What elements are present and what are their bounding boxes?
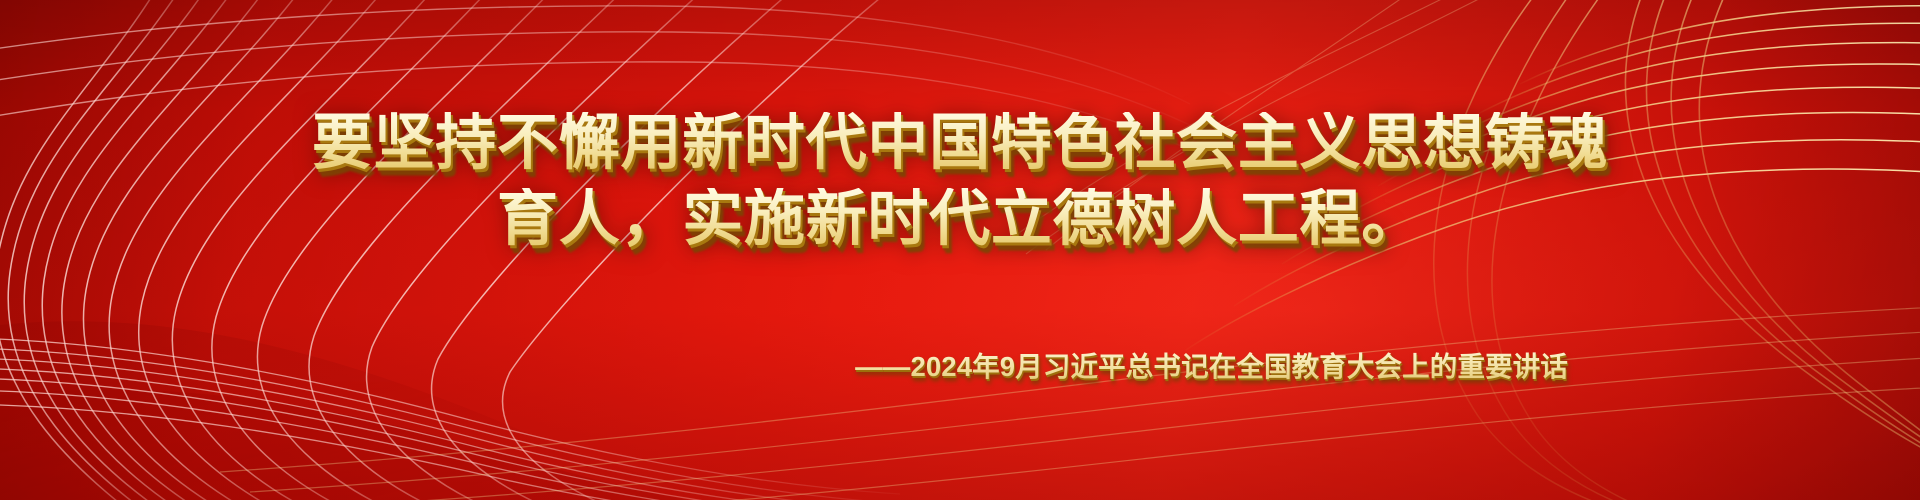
attribution-source: ——2024年9月习近平总书记在全国教育大会上的重要讲话 bbox=[0, 350, 1920, 383]
propaganda-banner: 要坚持不懈用新时代中国特色社会主义思想铸魂 育人，实施新时代立德树人工程。 ——… bbox=[0, 0, 1920, 500]
headline-line-1: 要坚持不懈用新时代中国特色社会主义思想铸魂 bbox=[0, 112, 1920, 173]
banner-text-block: 要坚持不懈用新时代中国特色社会主义思想铸魂 育人，实施新时代立德树人工程。 ——… bbox=[0, 0, 1920, 500]
headline-line-2: 育人，实施新时代立德树人工程。 bbox=[0, 188, 1920, 249]
